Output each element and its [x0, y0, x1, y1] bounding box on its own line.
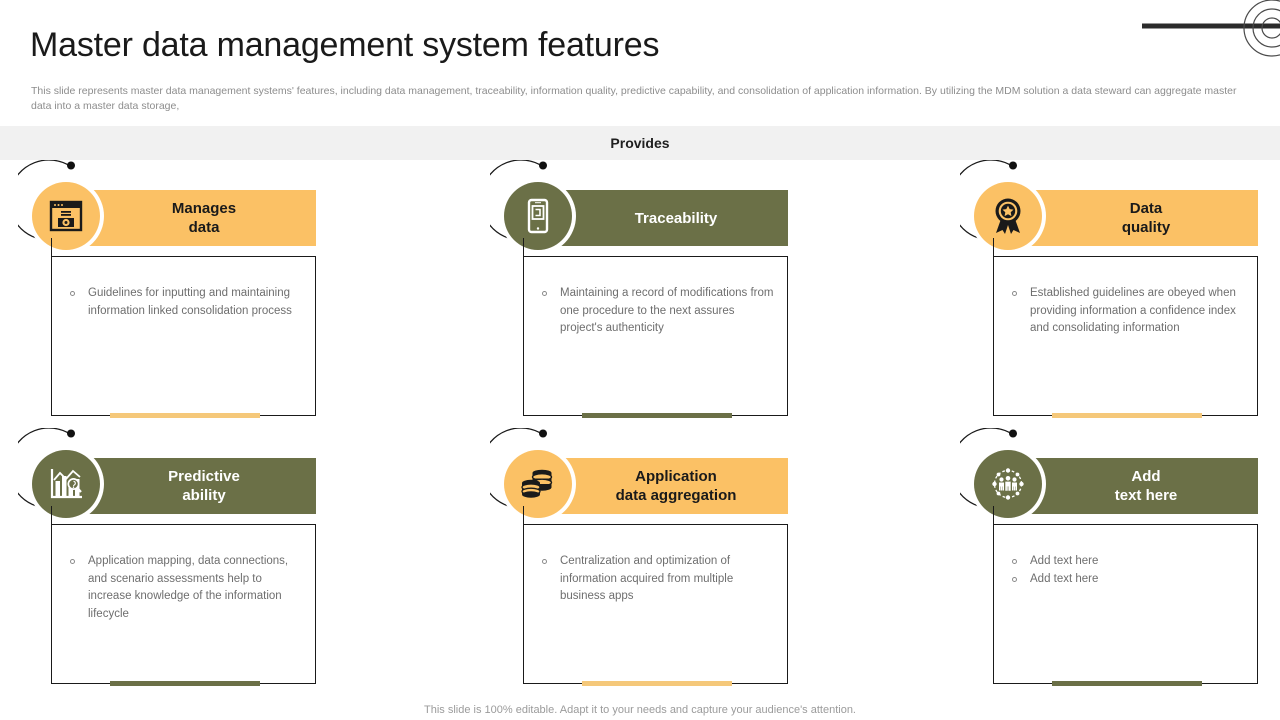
feature-card-title: Managesdata [172, 199, 236, 237]
connector-line [523, 238, 524, 256]
feature-bullet: Established guidelines are obeyed when p… [1010, 285, 1245, 338]
feature-card-title-line: Application [635, 468, 717, 485]
feature-card-accent-bar [110, 681, 260, 686]
feature-card-traceability: Traceability Maintaining a record of mod… [482, 160, 812, 420]
feature-cards-grid: Managesdata Guidelines for inputting and… [0, 160, 1280, 690]
connector-line [993, 506, 994, 524]
feature-card-body: Application mapping, data connections, a… [51, 524, 316, 684]
browser-window-settings-icon [32, 182, 100, 250]
feature-card-title-line: data [189, 219, 220, 236]
mobile-device-icon [504, 182, 572, 250]
feature-card-title-line: data aggregation [616, 487, 737, 504]
team-network-icon [974, 450, 1042, 518]
connector-line [993, 238, 994, 256]
feature-bullet-list: Application mapping, data connections, a… [68, 553, 303, 623]
feature-card-title-line: Traceability [635, 210, 718, 227]
feature-card-title: Traceability [635, 209, 718, 228]
feature-bullet: Application mapping, data connections, a… [68, 553, 303, 623]
feature-card-accent-bar [1052, 681, 1202, 686]
feature-card-title-line: Predictive [168, 468, 240, 485]
feature-bullet: Guidelines for inputting and maintaining… [68, 285, 303, 320]
feature-bullet: Maintaining a record of modifications fr… [540, 285, 775, 338]
feature-card-accent-bar [582, 413, 732, 418]
feature-card-title: Addtext here [1115, 467, 1178, 505]
feature-card-title-line: text here [1115, 487, 1178, 504]
connector-line [51, 238, 52, 256]
feature-card-accent-bar [110, 413, 260, 418]
feature-card-accent-bar [582, 681, 732, 686]
feature-card-body: Guidelines for inputting and maintaining… [51, 256, 316, 416]
feature-card-body: Centralization and optimization of infor… [523, 524, 788, 684]
corner-decoration-icon [1100, 0, 1280, 72]
connector-line [523, 506, 524, 524]
feature-card-body: Maintaining a record of modifications fr… [523, 256, 788, 416]
feature-card-title-line: ability [182, 487, 225, 504]
connector-line [51, 506, 52, 524]
provides-banner-label: Provides [610, 135, 669, 151]
feature-bullet-list: Maintaining a record of modifications fr… [540, 285, 775, 338]
feature-bullet-list: Add text hereAdd text here [1010, 553, 1245, 588]
feature-card-title-line: Add [1131, 468, 1160, 485]
feature-card-title-line: Manages [172, 200, 236, 217]
slide-footer-note: This slide is 100% editable. Adapt it to… [0, 704, 1280, 716]
feature-card-title: Dataquality [1122, 199, 1170, 237]
feature-card-accent-bar [1052, 413, 1202, 418]
slide-header: Master data management system features T… [0, 0, 1280, 124]
feature-bullet-list: Established guidelines are obeyed when p… [1010, 285, 1245, 338]
feature-bullet: Add text here [1010, 571, 1245, 589]
feature-bullet: Add text here [1010, 553, 1245, 571]
feature-card-body: Established guidelines are obeyed when p… [993, 256, 1258, 416]
feature-bullet-list: Guidelines for inputting and maintaining… [68, 285, 303, 320]
page-title: Master data management system features [30, 26, 659, 65]
feature-card-title: Applicationdata aggregation [616, 467, 737, 505]
page-subtitle: This slide represents master data manage… [31, 84, 1253, 113]
provides-banner: Provides [0, 126, 1280, 160]
award-ribbon-icon [974, 182, 1042, 250]
database-stack-icon [504, 450, 572, 518]
feature-bullet-list: Centralization and optimization of infor… [540, 553, 775, 606]
feature-card-title-line: Data [1130, 200, 1163, 217]
feature-card-title-line: quality [1122, 219, 1170, 236]
feature-card-manages-data: Managesdata Guidelines for inputting and… [10, 160, 340, 420]
bar-chart-magnifier-icon [32, 450, 100, 518]
feature-card-add-text-here: Addtext here [952, 428, 1280, 688]
feature-card-data-quality: Dataquality Established guidelines are o… [952, 160, 1280, 420]
feature-card-application-data-aggregation: Applicationdata aggregation [482, 428, 812, 688]
feature-card-predictive-ability: Predictiveability Application mapping, d… [10, 428, 340, 688]
feature-card-title: Predictiveability [168, 467, 240, 505]
feature-bullet: Centralization and optimization of infor… [540, 553, 775, 606]
feature-card-body: Add text hereAdd text here [993, 524, 1258, 684]
